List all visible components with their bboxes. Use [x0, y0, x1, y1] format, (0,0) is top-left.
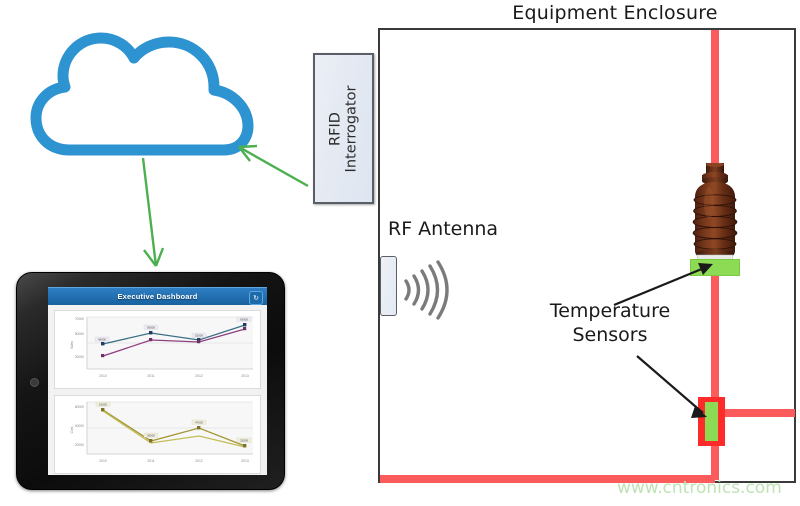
diagram-canvas: Executive Dashboard ↻ 70000: [0, 0, 800, 506]
svg-text:32000: 32000: [240, 439, 248, 443]
svg-text:63000: 63000: [240, 318, 248, 322]
svg-text:36000: 36000: [147, 434, 155, 438]
svg-text:60000: 60000: [75, 405, 84, 409]
rf-antenna-panel[interactable]: [380, 256, 397, 316]
temperature-sensor-busbar[interactable]: [698, 397, 725, 446]
svg-text:47000: 47000: [195, 421, 203, 425]
svg-text:61000: 61000: [99, 403, 107, 407]
svg-text:2011: 2011: [147, 374, 154, 378]
svg-text:Cost: Cost: [70, 427, 74, 434]
conductor-line-right: [715, 409, 795, 417]
dashboard-body: 70000 50000 30000 Sales 2010 2011 2012 2…: [48, 305, 267, 475]
svg-text:46000: 46000: [98, 338, 106, 342]
svg-text:2013: 2013: [241, 374, 249, 378]
temperature-sensors-label-line2: Sensors: [515, 324, 705, 348]
rfid-label-line1: RFID: [328, 85, 344, 172]
rfid-interrogator-box[interactable]: RFID Interrogator: [313, 53, 374, 204]
chart-card-1[interactable]: 70000 50000 30000 Sales 2010 2011 2012 2…: [54, 310, 261, 389]
svg-text:52000: 52000: [195, 334, 203, 338]
rfid-label-line2: Interrogator: [344, 85, 360, 172]
svg-text:50000: 50000: [75, 332, 84, 336]
tablet-home-button[interactable]: [30, 378, 39, 387]
svg-text:40000: 40000: [75, 424, 84, 428]
svg-text:70000: 70000: [75, 317, 84, 321]
svg-text:2010: 2010: [99, 374, 107, 378]
svg-text:30000: 30000: [75, 355, 84, 359]
svg-text:2012: 2012: [195, 459, 203, 463]
temperature-sensors-label: Temperature Sensors: [515, 300, 705, 348]
temperature-sensors-label-line1: Temperature: [515, 300, 705, 324]
tablet-device[interactable]: Executive Dashboard ↻ 70000: [16, 272, 285, 490]
page-title: Equipment Enclosure: [490, 2, 740, 24]
svg-text:2013: 2013: [241, 459, 249, 463]
svg-text:20000: 20000: [75, 443, 84, 447]
svg-text:Sales: Sales: [70, 341, 74, 350]
rf-antenna-label: RF Antenna: [388, 218, 498, 240]
dashboard-header: Executive Dashboard ↻: [48, 287, 267, 305]
refresh-icon[interactable]: ↻: [249, 291, 263, 305]
tablet-screen[interactable]: Executive Dashboard ↻ 70000: [48, 287, 267, 475]
svg-text:2011: 2011: [147, 459, 154, 463]
sensor-core: [705, 402, 718, 441]
arrow-cloud-to-tablet: [143, 158, 163, 266]
watermark: www.cntronics.com: [617, 478, 782, 498]
dashboard-title: Executive Dashboard: [117, 292, 197, 301]
line-chart-2: 60000 40000 20000 Cost 2010 2011 2012 20…: [55, 396, 260, 471]
rf-signal-waves-icon: [400, 255, 470, 325]
svg-text:2012: 2012: [195, 374, 203, 378]
rfid-interrogator-label: RFID Interrogator: [328, 85, 359, 172]
svg-text:2010: 2010: [99, 459, 107, 463]
line-chart-1: 70000 50000 30000 Sales 2010 2011 2012 2…: [55, 311, 260, 386]
temperature-sensor-bushing[interactable]: [690, 259, 740, 276]
chart-card-2[interactable]: 60000 40000 20000 Cost 2010 2011 2012 20…: [54, 395, 261, 474]
cloud-icon: [28, 22, 268, 157]
svg-text:56000: 56000: [147, 326, 155, 330]
